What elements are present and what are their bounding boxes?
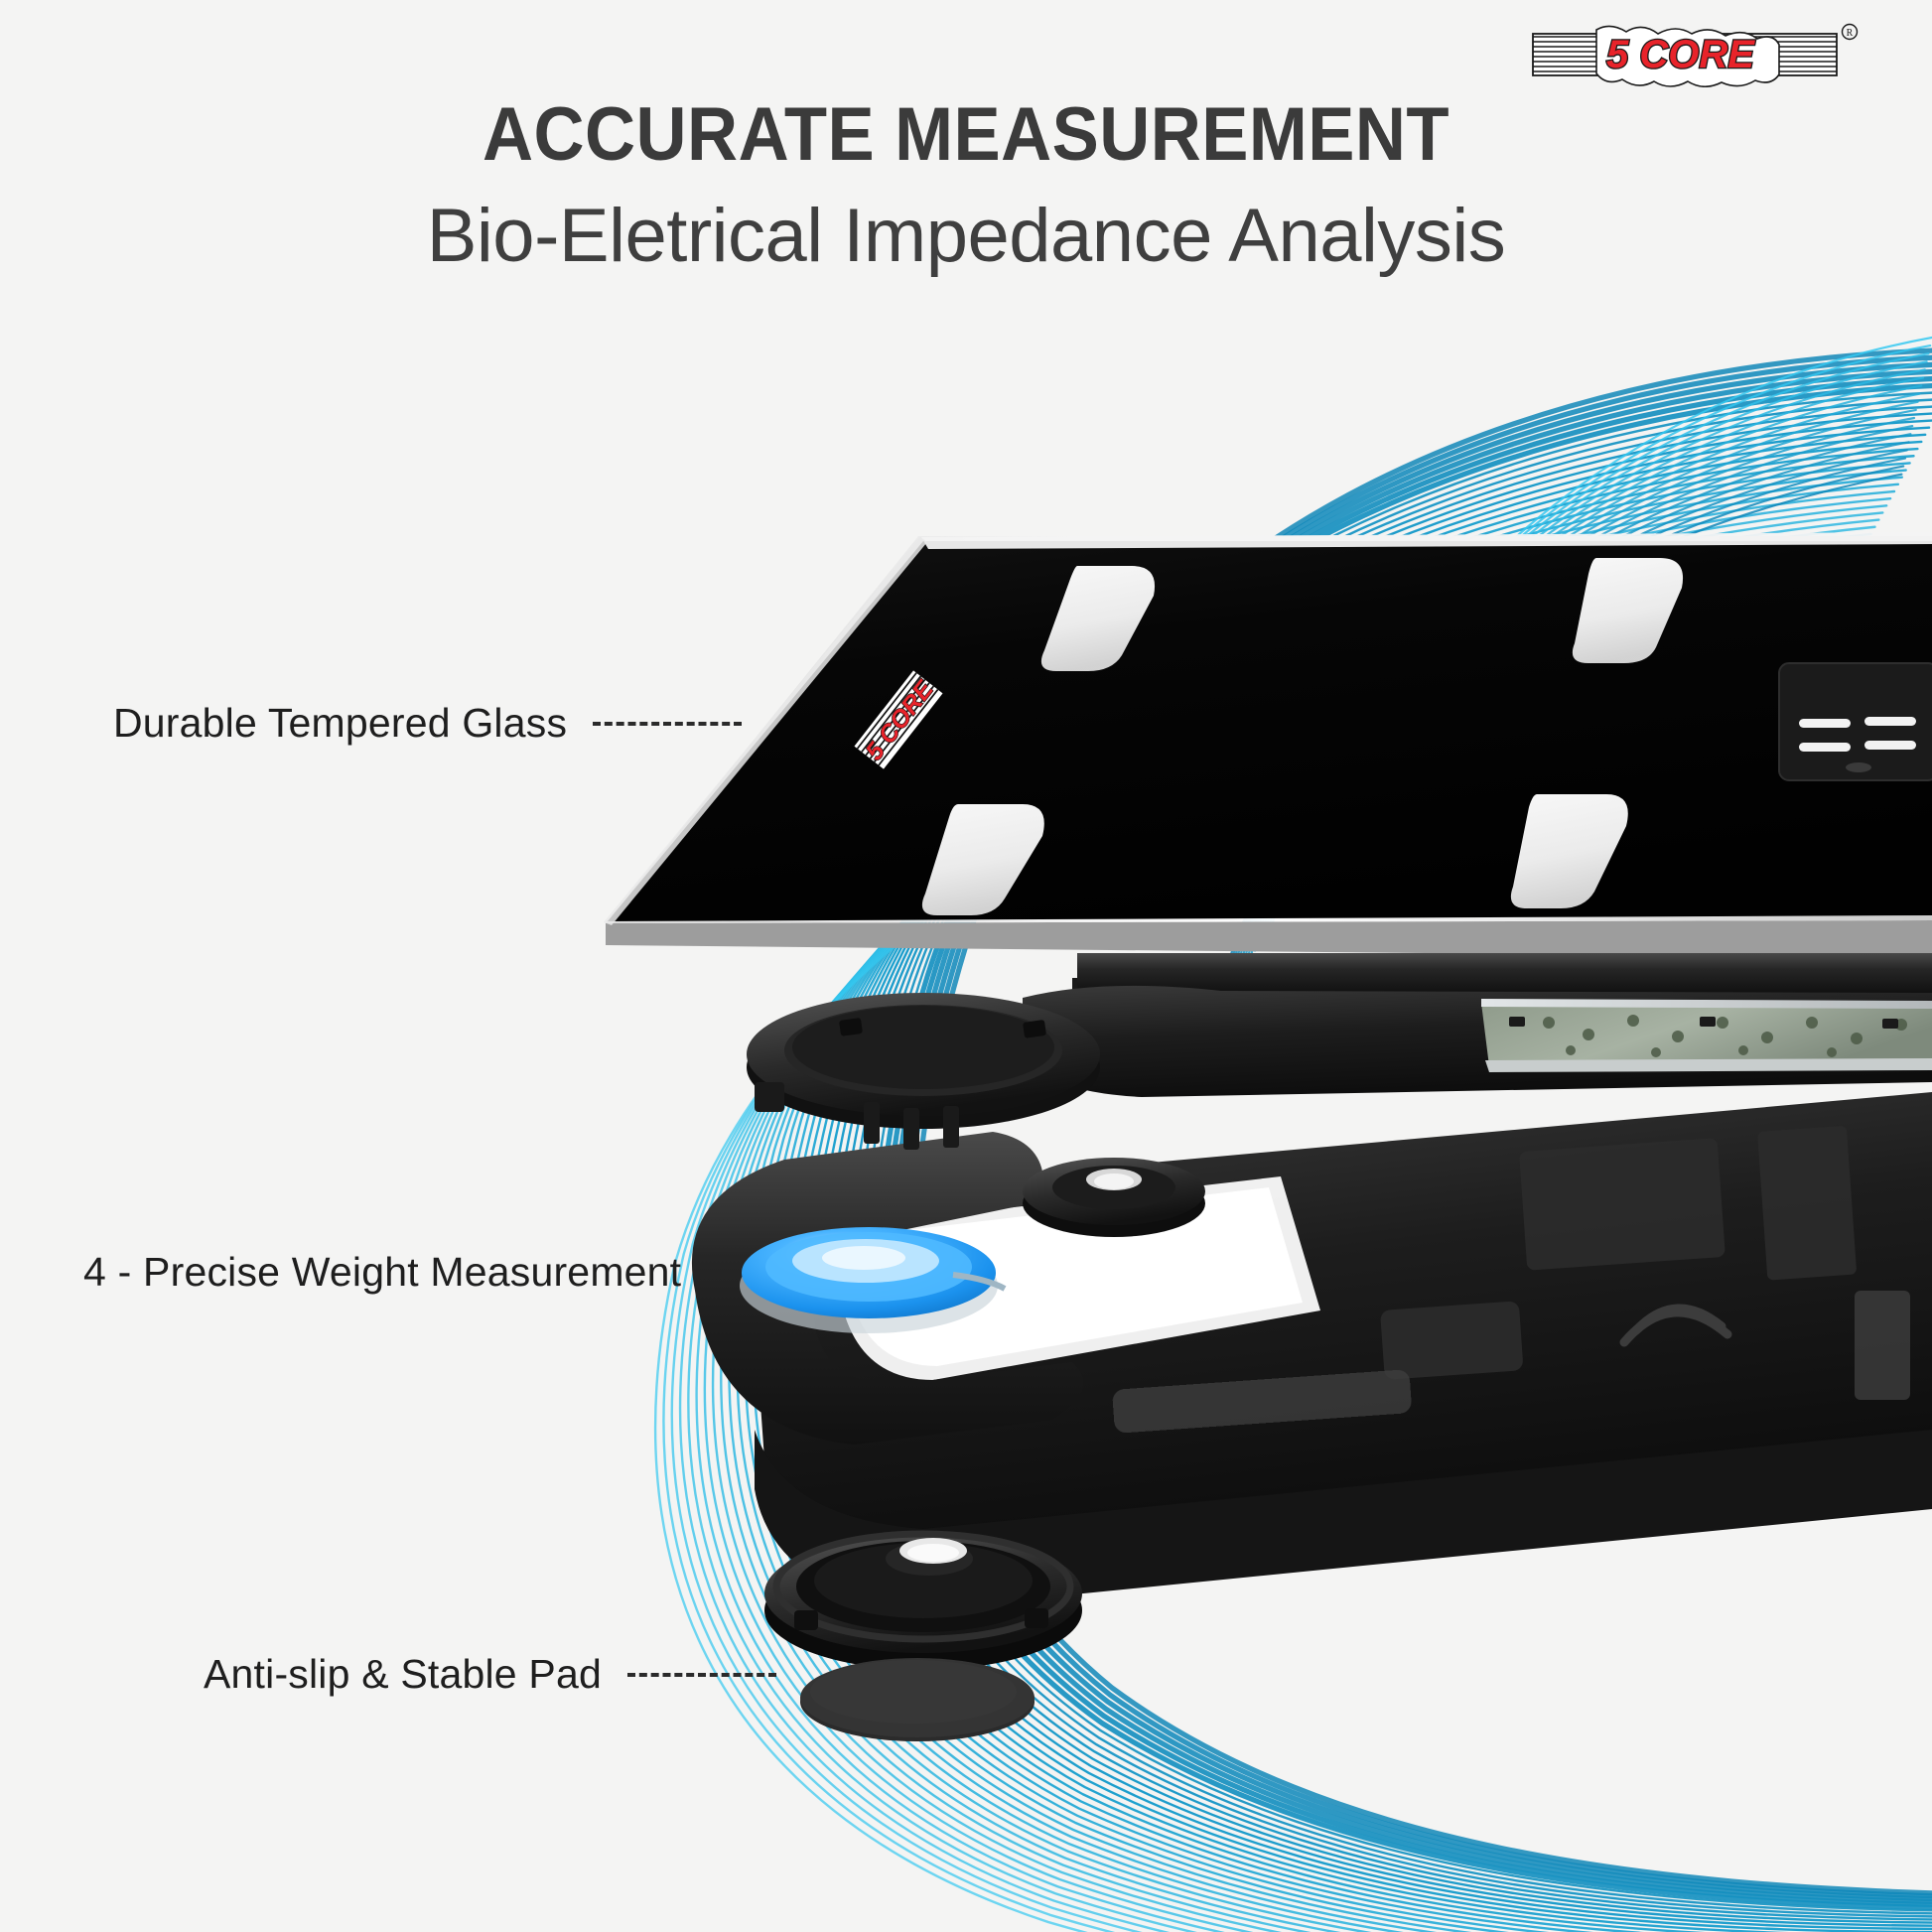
load-cell-assembly-bottom [764,1534,1082,1670]
circuit-board [1481,999,1932,1072]
product-exploded-view: 5 CORE [0,0,1932,1932]
anti-slip-pad [800,1658,1035,1741]
load-cell-sensor [740,1227,1005,1333]
led-display [1779,663,1932,780]
sensor-cover-secondary [1023,1158,1205,1237]
infographic-canvas: 5 CORE [0,0,1932,1932]
tempered-glass-top [604,532,1932,958]
sensor-cover [747,993,1100,1150]
